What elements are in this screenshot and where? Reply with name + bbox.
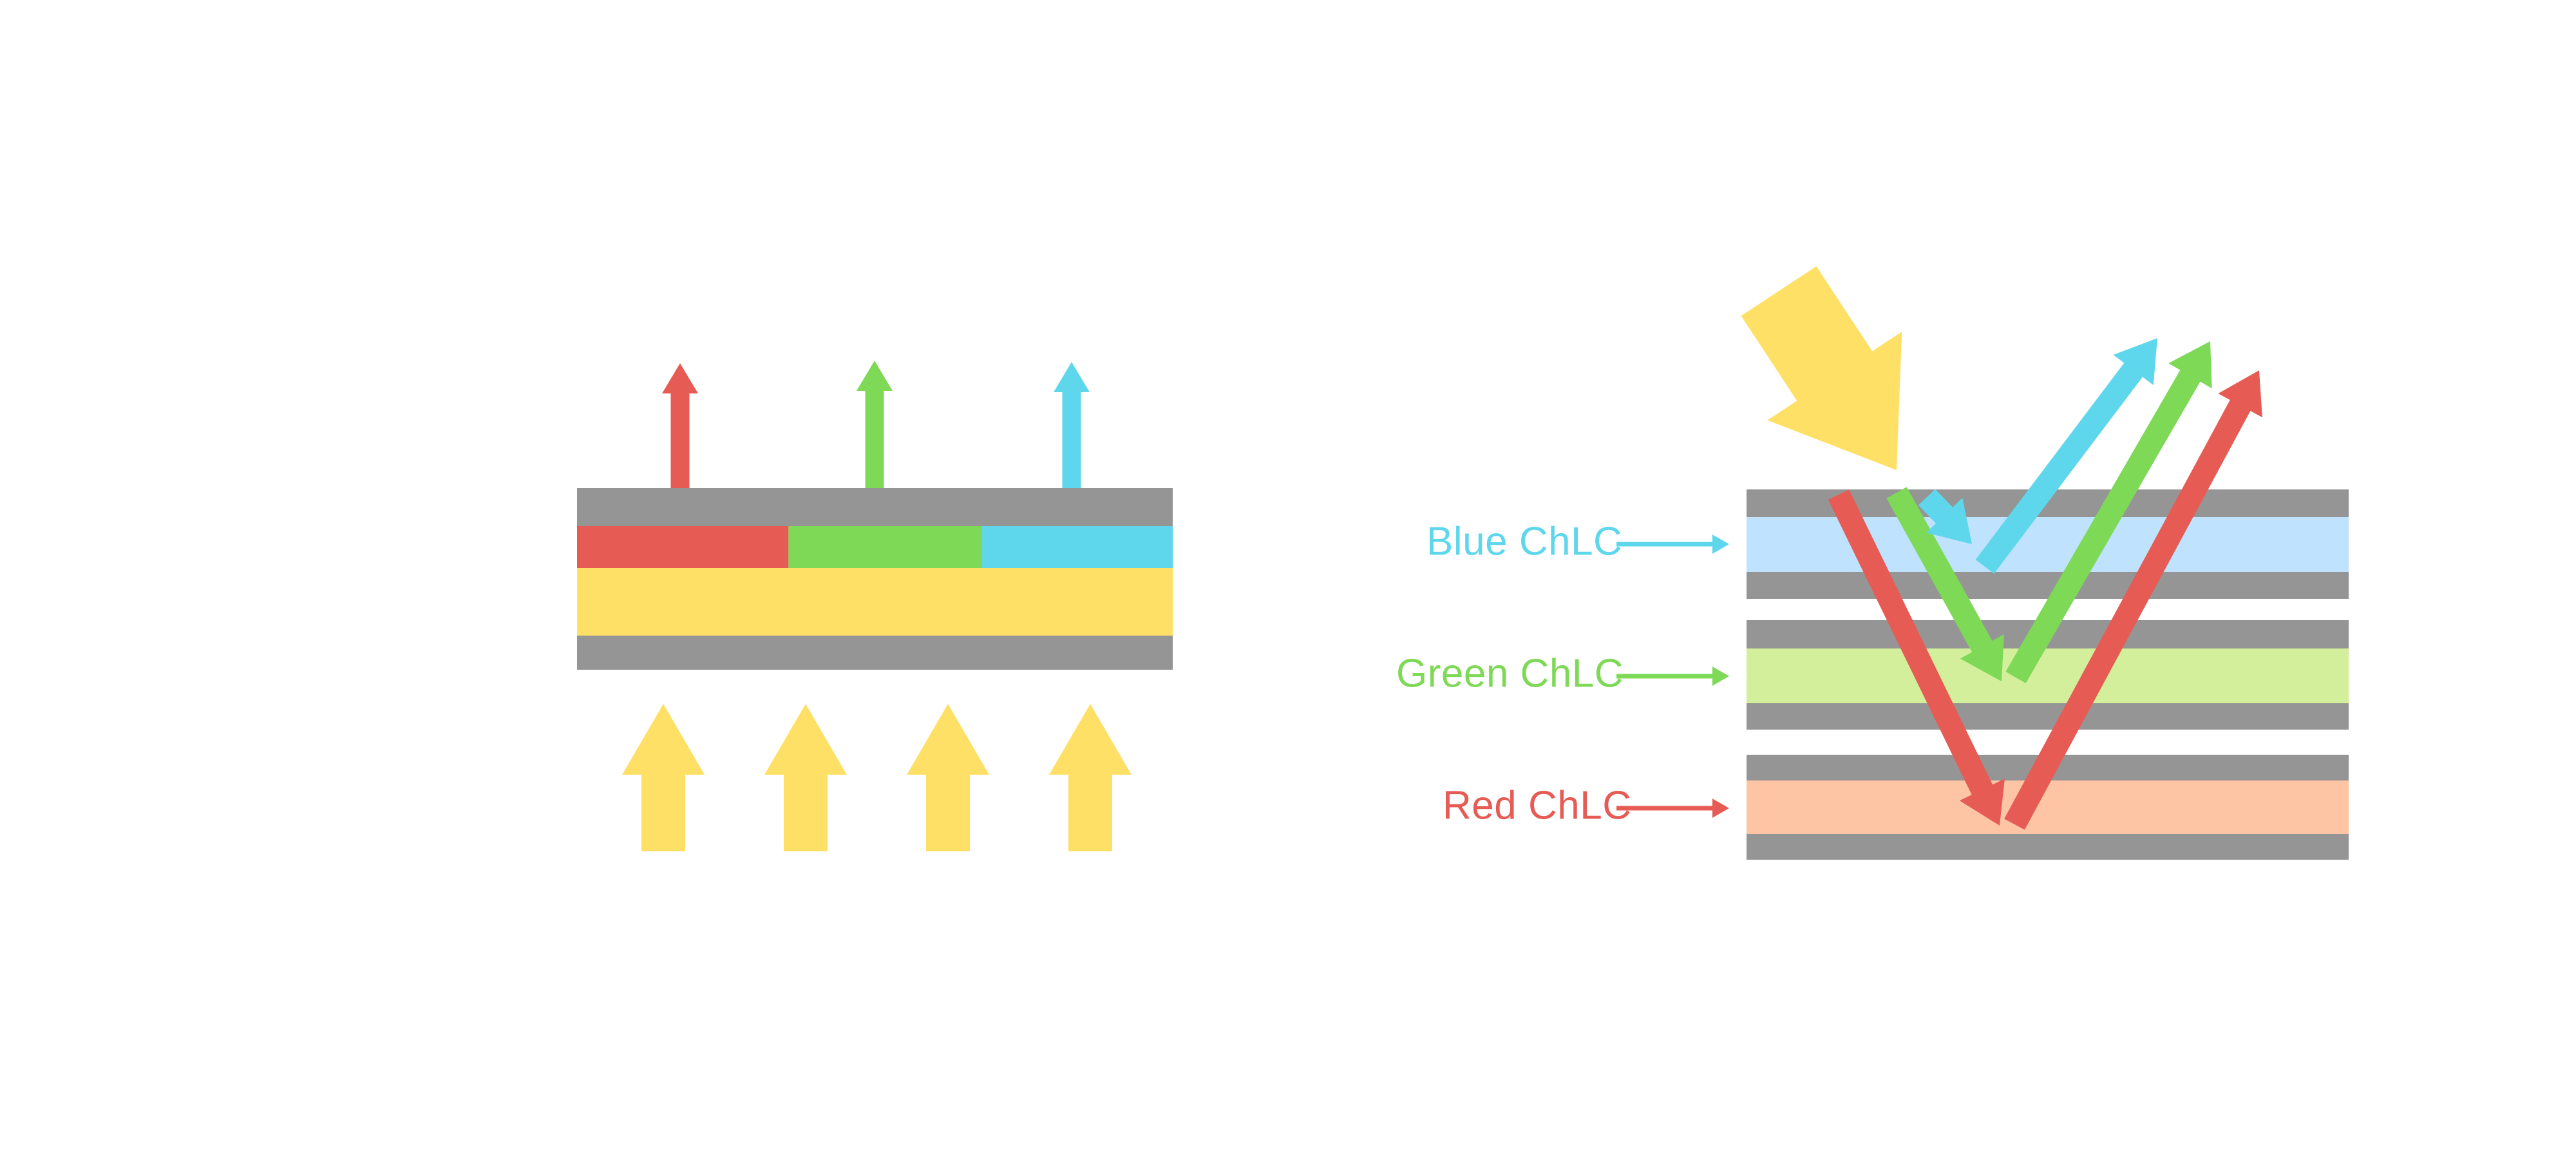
- red-bottom-electrode: [1747, 834, 2349, 860]
- green-chlc-group-label-text: Green ChLC: [1396, 651, 1624, 695]
- red-filter-segment: [577, 526, 788, 568]
- blue-chlc-layer: [1747, 517, 2349, 572]
- blue-chlc-group-label-text: Blue ChLC: [1426, 519, 1622, 563]
- blue-filter-segment: [982, 526, 1173, 568]
- blue-bottom-electrode: [1747, 572, 2349, 599]
- backlight-layer: [577, 568, 1173, 636]
- transmissive-stack: [577, 488, 1173, 670]
- green-bottom-electrode: [1747, 703, 2349, 730]
- red-chlc-group-label-text: Red ChLC: [1443, 783, 1631, 828]
- top-electrode-layer: [577, 488, 1173, 526]
- green-filter-segment: [788, 526, 982, 568]
- reflective-chlc-stack: [1747, 489, 2349, 860]
- green-chlc-layer: [1747, 648, 2349, 703]
- red-chlc-layer: [1747, 780, 2349, 834]
- bottom-electrode-layer: [577, 636, 1173, 670]
- diagram-canvas: Blue ChLCGreen ChLCRed ChLC: [0, 0, 2576, 1154]
